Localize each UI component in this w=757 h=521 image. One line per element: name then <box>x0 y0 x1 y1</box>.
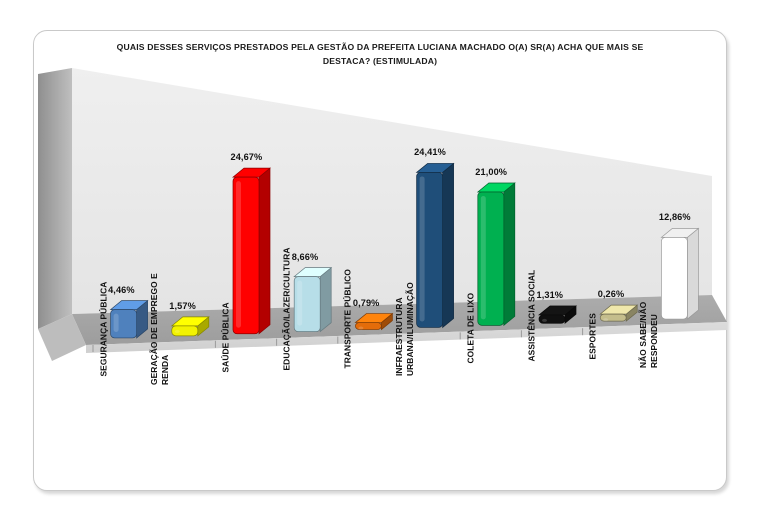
scene-side-wall <box>38 68 72 329</box>
category-label: INFRAESTRUTURA URBANA/ILUMINAÇÃO <box>394 283 415 377</box>
bar-highlight <box>114 314 119 332</box>
bar-highlight <box>603 318 608 321</box>
bar-green <box>478 183 515 325</box>
bar-light-cyan <box>294 268 331 332</box>
bar-highlight <box>358 327 363 330</box>
category-label: SAÚDE PÚBLICA <box>221 302 232 372</box>
bar-highlight <box>297 281 302 326</box>
bar-red <box>233 168 270 334</box>
value-label: 4,46% <box>108 285 135 295</box>
bar-highlight <box>542 319 547 322</box>
bar-side-face <box>504 183 515 325</box>
value-label: 21,00% <box>475 167 507 177</box>
category-label: SEGURANÇA PÚBLICA <box>98 282 109 377</box>
bar-steel-blue <box>111 301 148 338</box>
value-label: 24,41% <box>414 147 446 157</box>
value-label: 24,67% <box>231 152 263 162</box>
category-label: EDUCAÇÃO/LAZER/CULTURA <box>282 247 293 370</box>
bar-side-face <box>443 163 454 327</box>
value-label: 0,79% <box>353 298 380 308</box>
value-label: 1,31% <box>537 290 564 300</box>
category-label: ASSISTÊNCIA SOCIAL <box>527 270 538 362</box>
bar-side-face <box>320 268 331 332</box>
bar-highlight <box>420 176 425 321</box>
category-label: TRANSPORTE PÚBLICO <box>343 269 354 369</box>
chart-plot-area <box>33 30 727 491</box>
bar-white <box>661 228 698 319</box>
bar-highlight <box>481 196 486 319</box>
value-label: 1,57% <box>169 301 196 311</box>
value-label: 0,26% <box>598 289 625 299</box>
category-label: NÃO SABE/NÃO RESPONDEU <box>638 270 659 368</box>
bar-side-face <box>687 228 698 319</box>
category-label: ESPORTES <box>588 313 599 359</box>
bar-front-face <box>539 315 565 323</box>
category-label: GERAÇÃO DE EMPREGO E RENDA <box>149 273 170 385</box>
screenshot-root: QUAIS DESSES SERVIÇOS PRESTADOS PELA GES… <box>0 0 757 521</box>
bar-highlight <box>175 330 180 333</box>
value-label: 8,66% <box>292 252 319 262</box>
value-label: 12,86% <box>659 212 691 222</box>
bar-highlight <box>236 181 241 328</box>
bar-navy-blue <box>417 163 454 327</box>
bar-side-face <box>259 168 270 334</box>
category-label: COLETA DE LIXO <box>465 293 476 364</box>
